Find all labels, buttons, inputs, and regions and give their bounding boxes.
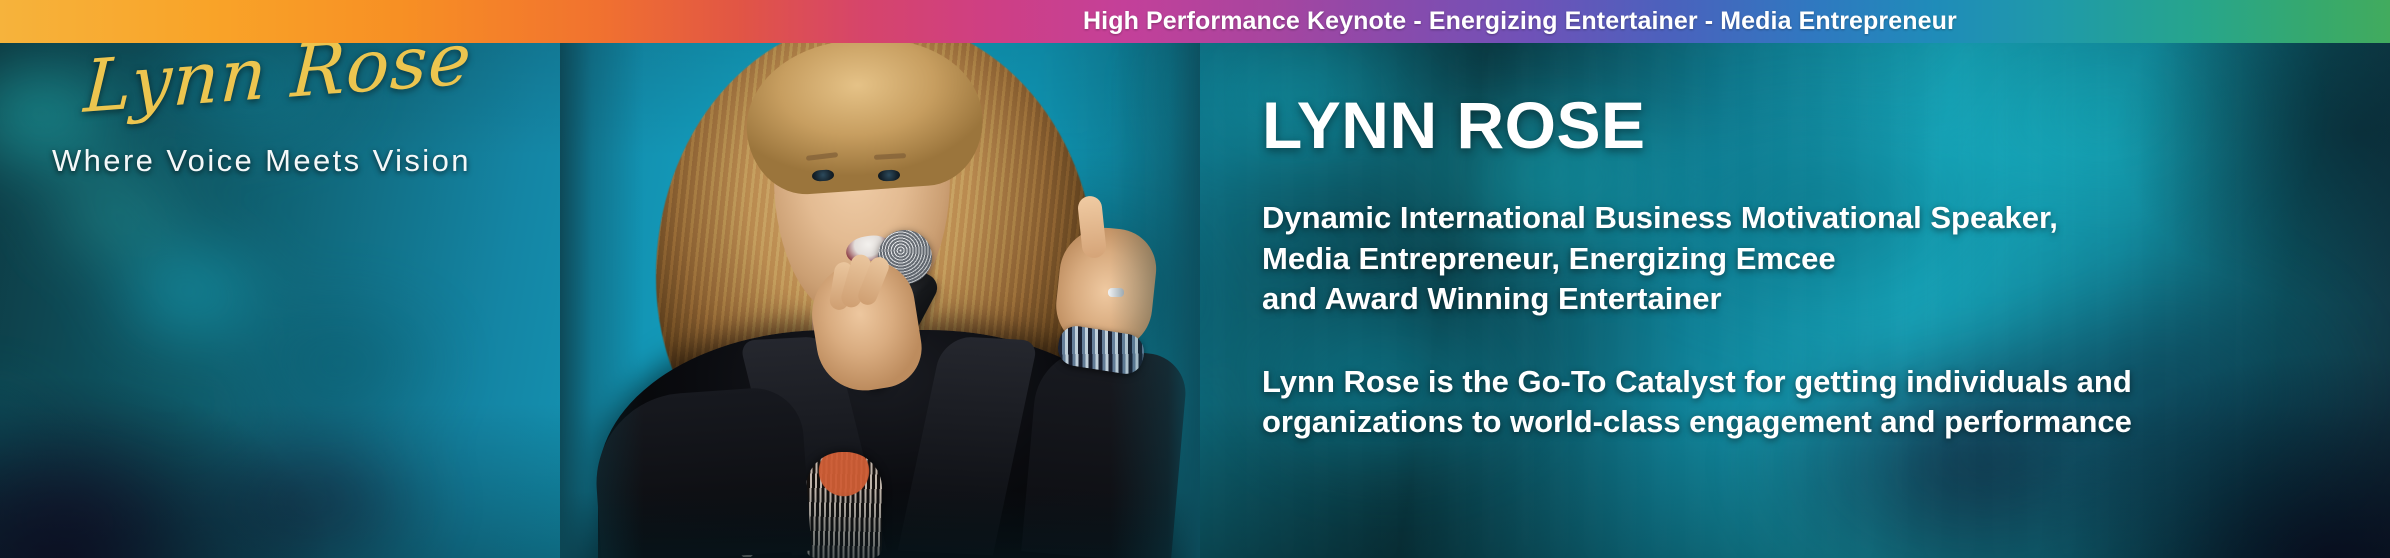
beaded-panel	[806, 452, 882, 558]
copy-block: LYNN ROSE Dynamic International Business…	[1262, 92, 2382, 443]
top-tagline: High Performance Keynote - Energizing En…	[1083, 0, 1957, 43]
logo-tagline: Where Voice Meets Vision	[52, 143, 432, 179]
pitch-statement: Lynn Rose is the Go-To Catalyst for gett…	[1262, 362, 2382, 443]
subheadline-line: Dynamic International Business Motivatio…	[1262, 198, 2382, 239]
pitch-line: Lynn Rose is the Go-To Catalyst for gett…	[1262, 362, 2382, 403]
subheadline-line: Media Entrepreneur, Energizing Emcee	[1262, 239, 2382, 280]
brand-logo: Lynn Rose Where Voice Meets Vision	[52, 52, 432, 179]
top-gradient-bar: High Performance Keynote - Energizing En…	[0, 0, 2390, 43]
speaker-portrait	[560, 0, 1200, 558]
pitch-line: organizations to world-class engagement …	[1262, 402, 2382, 443]
portrait-artwork	[560, 0, 1200, 558]
page-title: LYNN ROSE	[1262, 92, 2382, 158]
subheadline-line: and Award Winning Entertainer	[1262, 279, 2382, 320]
finger-ring	[1108, 288, 1124, 297]
arm-right	[1021, 344, 1189, 558]
subheadline: Dynamic International Business Motivatio…	[1262, 198, 2382, 320]
speaker-banner: High Performance Keynote - Energizing En…	[0, 0, 2390, 558]
